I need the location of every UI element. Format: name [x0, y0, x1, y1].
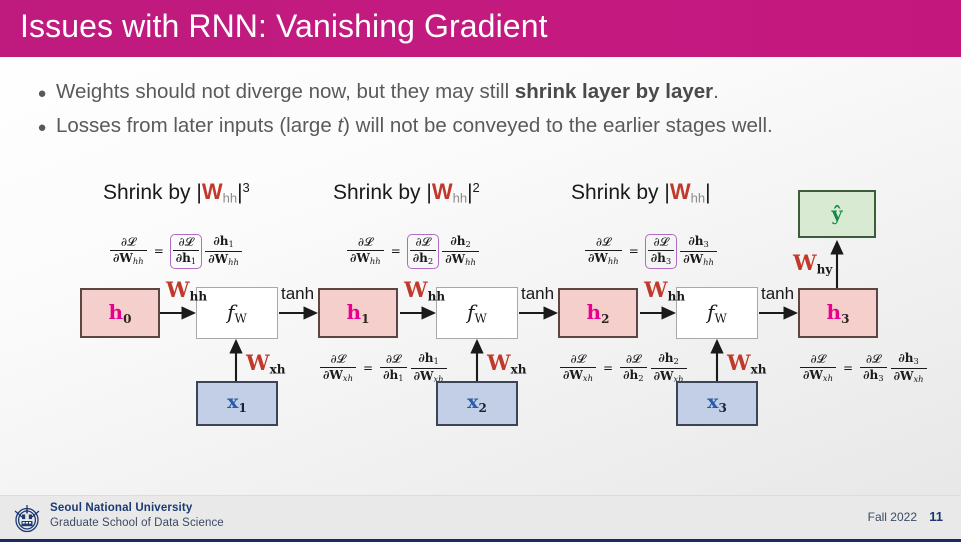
input-box-x2: x2	[436, 381, 518, 426]
weight-label-wxh-3: Wxh	[727, 350, 766, 377]
hh-equation-3: ∂𝓛 ∂Whh = ∂𝓛 ∂h3 ∂h3 ∂Whh	[583, 234, 719, 269]
hidden-state-box-h0: h0	[80, 288, 160, 338]
xeq2-lhs-num: ∂𝓛	[568, 353, 589, 367]
why-w: W	[793, 250, 817, 275]
xeq1-lhs-den: ∂W	[323, 368, 343, 382]
cell1-name: f	[227, 300, 234, 324]
snu-logo-icon	[10, 502, 44, 536]
cell3-name: f	[707, 300, 714, 324]
output-label-yhat: ŷ	[831, 203, 842, 225]
eq1-boxed-den: ∂h	[176, 251, 191, 265]
xeq2-m1-den: ∂h	[623, 368, 638, 382]
shrink-label-1-sub: hh	[223, 191, 237, 206]
xeq2-equals: =	[603, 361, 613, 375]
hidden-state-label-h2: h2	[587, 300, 610, 326]
h0-sub: 0	[123, 312, 131, 326]
eq2-lhs-den: ∂W	[350, 251, 370, 265]
xeq3-m2-num-sub: 3	[913, 356, 918, 366]
eq1-boxed-den-sub: 1	[191, 257, 196, 267]
shrink-label-3-text: Shrink by |	[571, 181, 670, 204]
x1-sub: 1	[238, 402, 246, 416]
eq1-rhs-den: ∂W	[208, 252, 228, 266]
weight-label-why: Why	[793, 250, 832, 277]
eq1-equals: =	[154, 244, 164, 258]
cell3-sub: W	[715, 312, 727, 326]
shrink-label-2-sub: hh	[453, 191, 467, 206]
eq2-lhs-num: ∂𝓛	[355, 236, 376, 250]
hh-equation-1: ∂𝓛 ∂Whh = ∂𝓛 ∂h1 ∂h1 ∂Whh	[108, 234, 244, 269]
xeq3-m2-den: ∂W	[894, 369, 914, 383]
input-box-x1: x1	[196, 381, 278, 426]
shrink-label-2-text: Shrink by |	[333, 181, 432, 204]
eq2-equals: =	[391, 244, 401, 258]
eq3-rhs-den-sub: hh	[703, 257, 714, 267]
x2-sub: 2	[478, 402, 486, 416]
xeq3-m1-den-sub: 3	[878, 373, 883, 383]
xeq3-lhs-num: ∂𝓛	[808, 353, 829, 367]
slide: Issues with RNN: Vanishing Gradient ● We…	[0, 0, 961, 542]
cell2-name: f	[467, 300, 474, 324]
xh-equation-3: ∂𝓛 ∂Wxh = ∂𝓛 ∂h3 ∂h3 ∂Wxh	[798, 352, 929, 384]
shrink-label-3-close: |	[705, 181, 710, 204]
shrink-label-1-text: Shrink by |	[103, 181, 202, 204]
xh-equation-1: ∂𝓛 ∂Wxh = ∂𝓛 ∂h1 ∂h1 ∂Wxh	[318, 352, 449, 384]
whh1-sub: hh	[190, 290, 207, 304]
shrink-label-3: Shrink by |Whh|	[571, 179, 711, 206]
hidden-state-box-h2: h2	[558, 288, 638, 338]
shrink-label-3-sub: hh	[691, 191, 705, 206]
xeq1-lhs-den-sub: xh	[343, 373, 353, 383]
output-box-yhat: ŷ	[798, 190, 876, 238]
wxh1-w: W	[246, 350, 270, 375]
input-label-x1: x1	[227, 391, 247, 415]
wxh2-w: W	[487, 350, 511, 375]
eq2-rhs-num-sub: 2	[465, 240, 470, 250]
eq3-lhs-den-sub: hh	[608, 257, 619, 267]
eq2-boxed-num: ∂𝓛	[413, 236, 434, 250]
hidden-state-box-h3: h3	[798, 288, 878, 338]
eq2-rhs-den-sub: hh	[465, 257, 476, 267]
xeq3-lhs-den-sub: xh	[823, 373, 833, 383]
shrink-label-1-exp: 3	[243, 180, 250, 195]
eq2-boxed-den-sub: 2	[428, 257, 433, 267]
h3-name: h	[827, 300, 842, 324]
wxh1-sub: xh	[270, 363, 286, 377]
xeq2-lhs-den-sub: xh	[583, 373, 593, 383]
whh2-w: W	[404, 277, 428, 302]
h3-sub: 3	[841, 312, 849, 326]
rnn-diagram: Shrink by |Whh|3 Shrink by |Whh|2 Shrink…	[0, 0, 961, 542]
shrink-label-1-w: W	[202, 179, 223, 204]
input-box-x3: x3	[676, 381, 758, 426]
rnn-cell-box-2: fW	[436, 287, 518, 339]
weight-label-whh-2: Whh	[404, 277, 445, 304]
eq3-lhs-den: ∂W	[588, 251, 608, 265]
x1-name: x	[227, 391, 238, 413]
xeq1-lhs-num: ∂𝓛	[328, 353, 349, 367]
xeq1-m2-num: ∂h	[418, 351, 433, 365]
rnn-cell-box-1: fW	[196, 287, 278, 339]
wxh2-sub: xh	[511, 363, 527, 377]
eq1-rhs-num: ∂h	[213, 234, 228, 248]
xeq1-m1-num: ∂𝓛	[383, 353, 404, 367]
footer-university: Seoul National University	[50, 502, 192, 514]
why-sub: hy	[817, 263, 833, 277]
x2-name: x	[467, 391, 478, 413]
rnn-cell-box-3: fW	[676, 287, 758, 339]
footer-school: Graduate School of Data Science	[50, 517, 224, 529]
activation-label-tanh-1: tanh	[281, 284, 314, 304]
eq1-lhs-num: ∂𝓛	[118, 236, 139, 250]
activation-label-tanh-2: tanh	[521, 284, 554, 304]
shrink-label-1: Shrink by |Whh|3	[103, 179, 250, 206]
h1-name: h	[347, 300, 362, 324]
eq3-rhs-num: ∂h	[688, 234, 703, 248]
xeq2-m1-num: ∂𝓛	[623, 353, 644, 367]
h1-sub: 1	[361, 312, 369, 326]
xeq3-m1-num: ∂𝓛	[863, 353, 884, 367]
wxh3-sub: xh	[751, 363, 767, 377]
xeq2-m2-num: ∂h	[658, 351, 673, 365]
xeq2-m2-den: ∂W	[654, 369, 674, 383]
shrink-label-2: Shrink by |Whh|2	[333, 179, 480, 206]
xeq1-m2-num-sub: 1	[433, 356, 438, 366]
input-label-x3: x3	[707, 391, 727, 415]
eq3-lhs-num: ∂𝓛	[593, 236, 614, 250]
whh3-w: W	[644, 277, 668, 302]
eq2-rhs-num: ∂h	[450, 234, 465, 248]
hidden-state-label-h1: h1	[347, 300, 370, 326]
activation-label-tanh-3: tanh	[761, 284, 794, 304]
rnn-cell-label-2: fW	[467, 300, 487, 326]
shrink-label-2-exp: 2	[473, 180, 480, 195]
xeq3-equals: =	[843, 361, 853, 375]
hidden-state-label-h3: h3	[827, 300, 850, 326]
footer-term: Fall 2022	[868, 510, 917, 524]
footer: Seoul National University Graduate Schoo…	[0, 495, 961, 542]
hidden-state-box-h1: h1	[318, 288, 398, 338]
xh-equation-2: ∂𝓛 ∂Wxh = ∂𝓛 ∂h2 ∂h2 ∂Wxh	[558, 352, 689, 384]
weight-label-wxh-1: Wxh	[246, 350, 285, 377]
rnn-cell-label-3: fW	[707, 300, 727, 326]
whh3-sub: hh	[668, 290, 685, 304]
eq1-rhs-num-sub: 1	[228, 240, 233, 250]
weight-label-wxh-2: Wxh	[487, 350, 526, 377]
x3-sub: 3	[718, 402, 726, 416]
xeq3-m1-den: ∂h	[863, 368, 878, 382]
whh2-sub: hh	[428, 290, 445, 304]
xeq2-m1-den-sub: 2	[638, 373, 643, 383]
footer-page-number: 11	[929, 509, 943, 524]
xeq1-m2-den: ∂W	[414, 369, 434, 383]
eq1-lhs-den: ∂W	[113, 251, 133, 265]
eq3-boxed-den: ∂h	[651, 251, 666, 265]
xeq1-m1-den-sub: 1	[398, 373, 403, 383]
wxh3-w: W	[727, 350, 751, 375]
eq3-boxed-den-sub: 3	[666, 257, 671, 267]
eq1-rhs-den-sub: hh	[228, 257, 239, 267]
eq2-rhs-den: ∂W	[445, 252, 465, 266]
eq3-boxed-num: ∂𝓛	[651, 236, 672, 250]
h2-name: h	[587, 300, 602, 324]
rnn-cell-label-1: fW	[227, 300, 247, 326]
xeq3-m2-den-sub: xh	[913, 374, 923, 384]
eq2-lhs-den-sub: hh	[370, 257, 381, 267]
shrink-label-2-w: W	[432, 179, 453, 204]
xeq2-m2-num-sub: 2	[673, 356, 678, 366]
eq3-rhs-den: ∂W	[683, 252, 703, 266]
eq1-lhs-den-sub: hh	[133, 257, 144, 267]
weight-label-whh-1: Whh	[166, 277, 207, 304]
h0-name: h	[109, 300, 124, 324]
xeq2-lhs-den: ∂W	[563, 368, 583, 382]
eq3-rhs-num-sub: 3	[703, 240, 708, 250]
eq3-equals: =	[629, 244, 639, 258]
cell2-sub: W	[475, 312, 487, 326]
input-label-x2: x2	[467, 391, 487, 415]
shrink-label-3-w: W	[670, 179, 691, 204]
xeq3-m2-num: ∂h	[898, 351, 913, 365]
h2-sub: 2	[601, 312, 609, 326]
eq1-boxed-num: ∂𝓛	[176, 236, 197, 250]
hh-equation-2: ∂𝓛 ∂Whh = ∂𝓛 ∂h2 ∂h2 ∂Whh	[345, 234, 481, 269]
x3-name: x	[707, 391, 718, 413]
xeq1-equals: =	[363, 361, 373, 375]
xeq3-lhs-den: ∂W	[803, 368, 823, 382]
xeq1-m1-den: ∂h	[383, 368, 398, 382]
whh1-w: W	[166, 277, 190, 302]
eq2-boxed-den: ∂h	[413, 251, 428, 265]
cell1-sub: W	[235, 312, 247, 326]
hidden-state-label-h0: h0	[109, 300, 132, 326]
weight-label-whh-3: Whh	[644, 277, 685, 304]
